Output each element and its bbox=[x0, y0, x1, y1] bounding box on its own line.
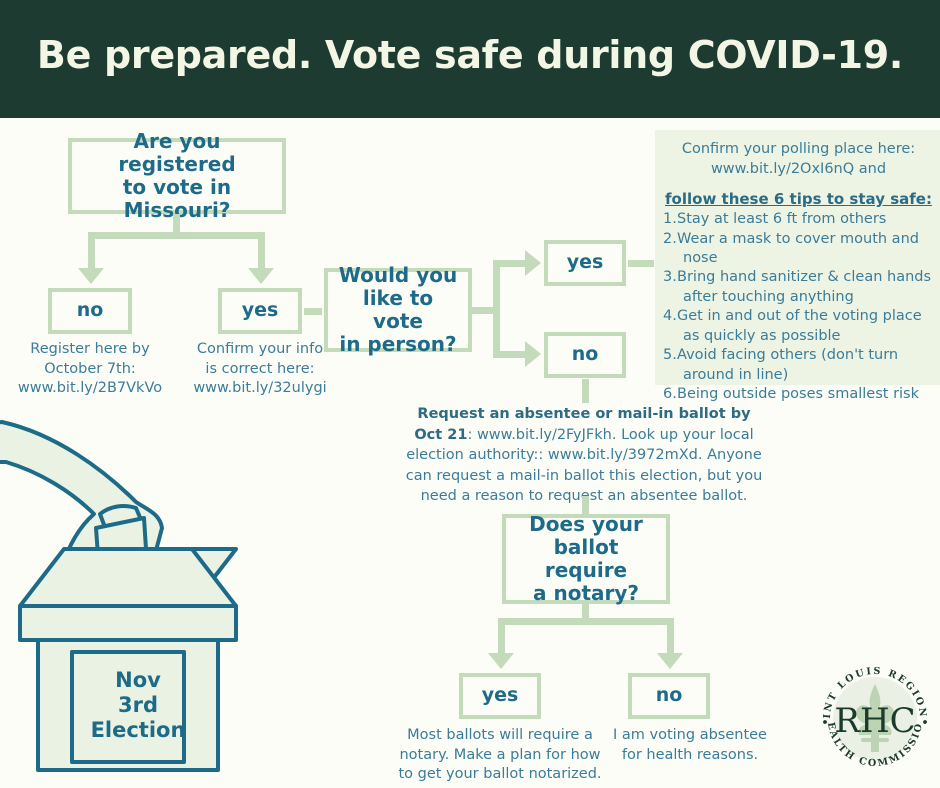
tip-number: 1. bbox=[663, 210, 677, 229]
tip-number: 4. bbox=[663, 307, 677, 326]
question-box-registered: Are you registered to vote in Missouri? bbox=[68, 138, 286, 214]
logo-dot-right bbox=[923, 720, 927, 724]
answer-in-person-no-label: no bbox=[572, 344, 599, 366]
connector-q2-to-yes bbox=[493, 260, 527, 267]
answer-no-label: no bbox=[77, 300, 104, 322]
answer-box-in-person-no: no bbox=[544, 332, 626, 378]
connector-q3-crossbar bbox=[498, 618, 674, 625]
connector-yes-to-tips bbox=[628, 260, 654, 267]
arrow-q2-to-no bbox=[525, 341, 541, 367]
infographic-canvas: Be prepared. Vote safe during COVID-19. … bbox=[0, 0, 940, 788]
list-item: 1.Stay at least 6 ft from others bbox=[663, 210, 934, 229]
absentee-instructions-paragraph: Request an absentee or mail-in ballot by… bbox=[404, 404, 764, 507]
connector-q2-to-no bbox=[493, 351, 527, 358]
tip-number: 5. bbox=[663, 346, 677, 365]
tip-text: Being outside poses smallest risk bbox=[677, 386, 919, 402]
page-title: Be prepared. Vote safe during COVID-19. bbox=[0, 33, 940, 77]
tips-polling-place-text: Confirm your polling place here: www.bit… bbox=[663, 140, 934, 179]
tips-list: 1.Stay at least 6 ft from others 2.Wear … bbox=[663, 210, 934, 404]
answer-box-notary-no: no bbox=[628, 673, 710, 719]
rhc-logo: SAINT LOUIS REGIONAL HEALTH COMMISSION R… bbox=[816, 660, 934, 778]
connector-no-to-absentee bbox=[582, 379, 589, 403]
connector-yes-to-q2 bbox=[304, 308, 322, 315]
caption-register-link: Register here by October 7th: www.bit.ly… bbox=[10, 340, 170, 399]
tips-panel: Confirm your polling place here: www.bit… bbox=[655, 130, 940, 385]
list-item: 3.Bring hand sanitizer & clean hands aft… bbox=[663, 268, 934, 307]
list-item: 5.Avoid facing others (don't turn around… bbox=[663, 346, 934, 385]
tip-text: Stay at least 6 ft from others bbox=[677, 211, 886, 227]
answer-box-in-person-yes: yes bbox=[544, 240, 626, 286]
question-registered-label: Are you registered to vote in Missouri? bbox=[82, 130, 272, 222]
question-vote-in-person-label: Would you like to vote in person? bbox=[338, 264, 458, 356]
tip-text: Avoid facing others (don't turn around i… bbox=[677, 347, 898, 382]
tips-heading: follow these 6 tips to stay safe: bbox=[663, 190, 934, 208]
arrow-q1-to-no bbox=[78, 268, 104, 284]
tip-number: 2. bbox=[663, 230, 677, 249]
tip-text: Wear a mask to cover mouth and nose bbox=[677, 231, 919, 266]
answer-notary-yes-label: yes bbox=[482, 685, 519, 707]
question-box-notary: Does your ballot require a notary? bbox=[502, 514, 670, 604]
logo-initials: RHC bbox=[834, 701, 915, 741]
arrow-q3-to-yes bbox=[488, 653, 514, 669]
arrow-q1-to-yes bbox=[248, 268, 274, 284]
caption-notary-no: I am voting absentee for health reasons. bbox=[590, 726, 790, 765]
list-item: 2.Wear a mask to cover mouth and nose bbox=[663, 230, 934, 269]
tip-text: Bring hand sanitizer & clean hands after… bbox=[677, 269, 931, 304]
answer-in-person-yes-label: yes bbox=[567, 252, 604, 274]
answer-notary-no-label: no bbox=[656, 685, 683, 707]
answer-box-notary-yes: yes bbox=[459, 673, 541, 719]
list-item: 4.Get in and out of the voting place as … bbox=[663, 307, 934, 346]
arrow-q3-to-no bbox=[657, 653, 683, 669]
connector-q1-crossbar bbox=[88, 232, 265, 239]
answer-box-registered: yes bbox=[218, 288, 302, 334]
answer-box-not-registered: no bbox=[48, 288, 132, 334]
question-box-vote-in-person: Would you like to vote in person? bbox=[324, 268, 472, 352]
tip-number: 3. bbox=[663, 268, 677, 287]
tip-number: 6. bbox=[663, 385, 677, 404]
list-item: 6.Being outside poses smallest risk bbox=[663, 385, 934, 404]
ballot-box-date-label: Nov 3rd Election bbox=[78, 668, 198, 744]
connector-q2-vertical bbox=[493, 263, 500, 358]
arrow-q2-to-yes bbox=[525, 250, 541, 276]
logo-dot-left bbox=[823, 720, 827, 724]
caption-confirm-info-link: Confirm your info is correct here: www.b… bbox=[180, 340, 340, 399]
answer-yes-label: yes bbox=[242, 300, 279, 322]
tip-text: Get in and out of the voting place as qu… bbox=[677, 308, 922, 343]
question-notary-label: Does your ballot require a notary? bbox=[516, 513, 656, 605]
